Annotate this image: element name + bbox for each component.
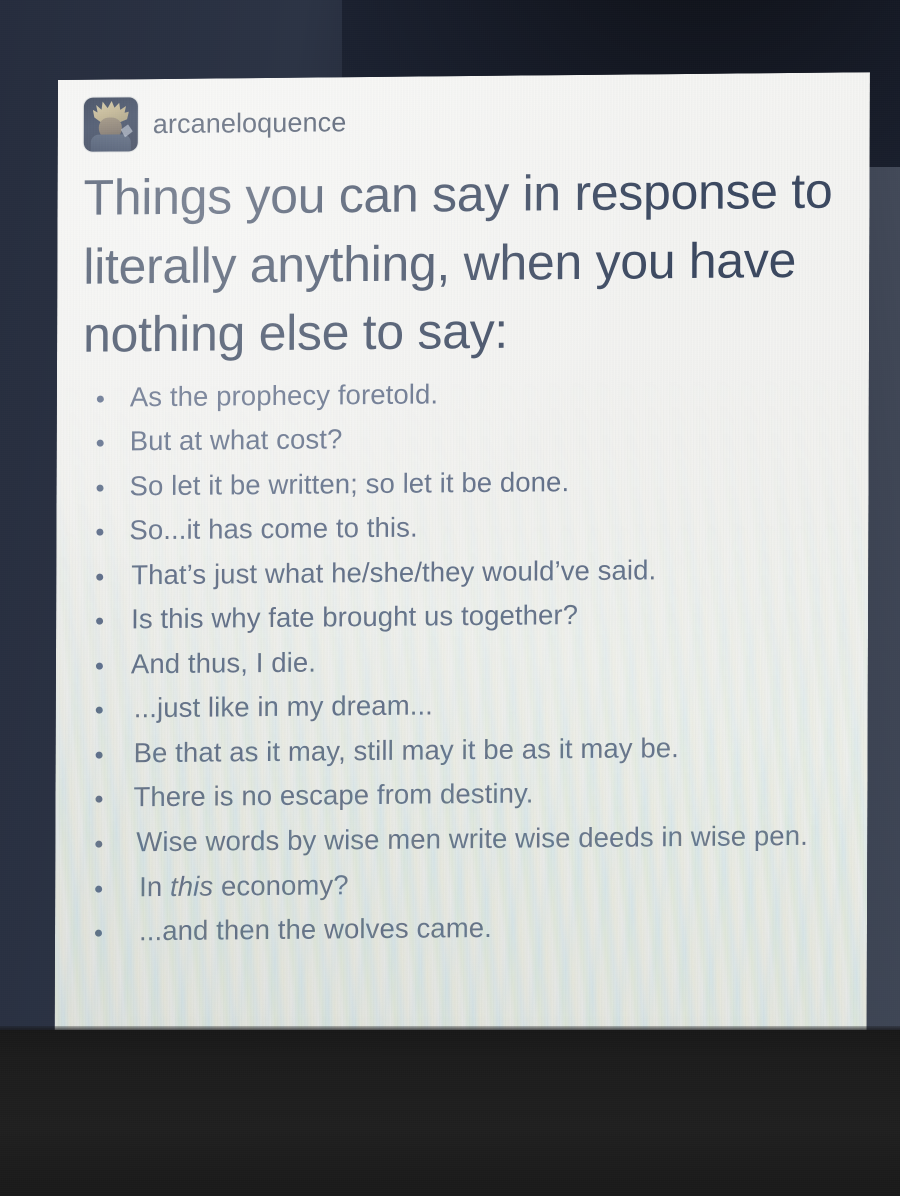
post-card-surface: arcaneloquence Things you can say in res… <box>55 72 870 1040</box>
post-content: arcaneloquence Things you can say in res… <box>81 90 852 1039</box>
list-item: That’s just what he/she/they would’ve sa… <box>82 546 850 598</box>
phrase-list: As the prophecy foretold. But at what co… <box>81 368 851 955</box>
list-item: ...and then the wolves came. <box>81 903 849 955</box>
avatar[interactable] <box>84 97 138 152</box>
post-title: Things you can say in response to litera… <box>83 156 844 369</box>
monitor-bottom-bezel <box>0 1030 900 1196</box>
photo-of-screen: arcaneloquence Things you can say in res… <box>0 0 900 1196</box>
list-item: Be that as it may, still may it be as it… <box>82 724 850 776</box>
list-item: There is no escape from destiny. <box>81 769 849 821</box>
list-item: But at what cost? <box>83 412 851 464</box>
list-item-emphasis: this <box>170 870 213 901</box>
list-item: ...just like in my dream... <box>82 680 850 732</box>
list-item: And thus, I die. <box>82 635 850 687</box>
list-item: Wise words by wise men write wise deeds … <box>81 813 849 865</box>
tumblr-post-card: arcaneloquence Things you can say in res… <box>55 72 870 1040</box>
list-item-italic: In this economy? <box>81 858 849 910</box>
post-header: arcaneloquence <box>84 90 852 151</box>
post-username[interactable]: arcaneloquence <box>153 107 347 140</box>
list-item-suffix: economy? <box>213 869 349 901</box>
list-item: So...it has come to this. <box>82 502 850 554</box>
list-item: As the prophecy foretold. <box>83 368 851 420</box>
list-item: So let it be written; so let it be done. <box>83 457 851 509</box>
list-item-prefix: In <box>139 870 170 901</box>
list-item: Is this why fate brought us together? <box>82 591 850 643</box>
